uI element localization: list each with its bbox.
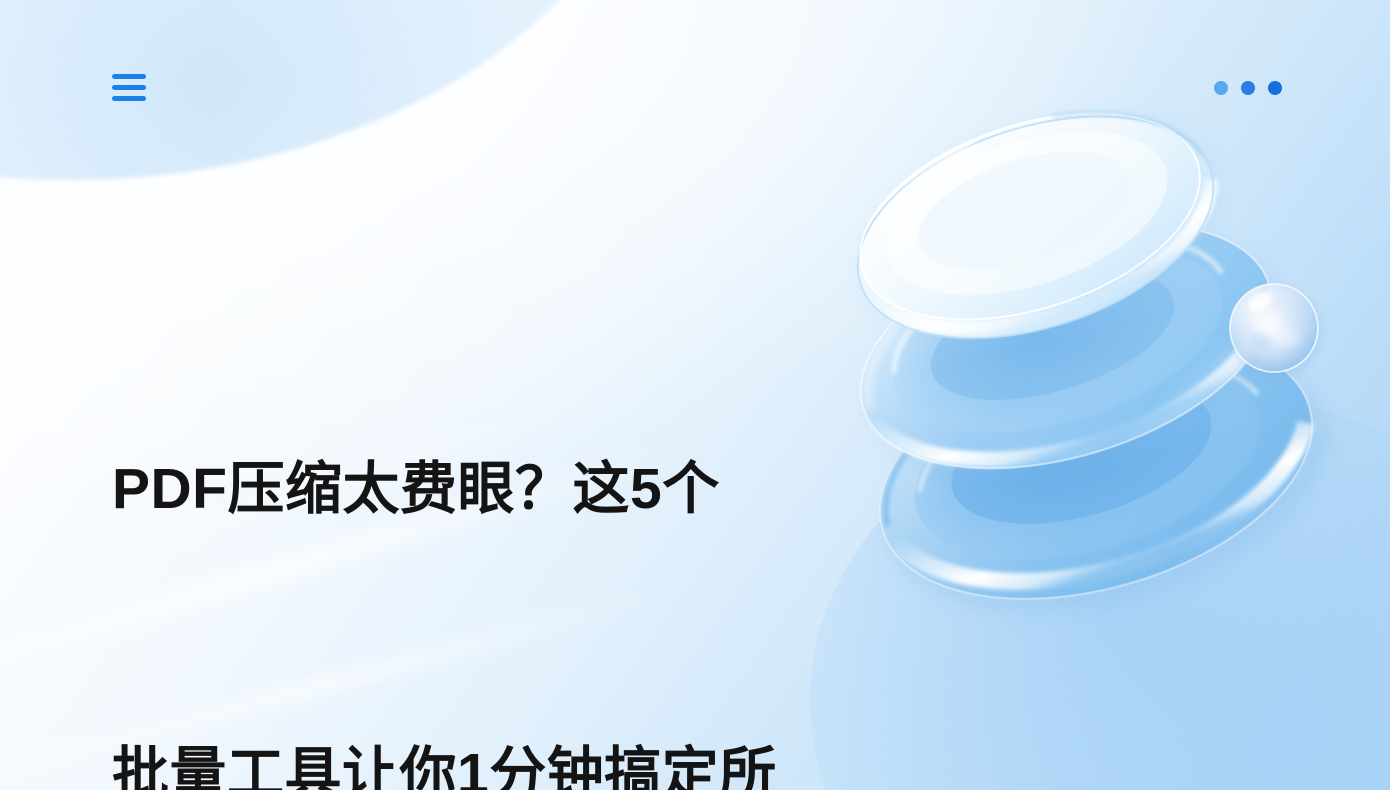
slide-topbar (0, 0, 1390, 175)
hamburger-bar-3 (112, 96, 146, 101)
background-haze-decoration (810, 390, 1390, 790)
hamburger-bar-2 (112, 85, 146, 90)
hamburger-bar-1 (112, 74, 146, 79)
dot-3-icon (1268, 81, 1282, 95)
stacked-glass-discs-illustration (798, 148, 1338, 668)
page-title-line: PDF压缩太费眼？这5个 (112, 442, 872, 537)
glass-disc-middle (831, 177, 1312, 525)
glass-sphere (1230, 284, 1322, 378)
dot-2-icon (1241, 81, 1255, 95)
slide-canvas: PDF压缩太费眼？这5个 批量工具让你1分钟搞定所 有文件 (0, 0, 1390, 790)
more-options-dots-icon[interactable] (1214, 81, 1282, 95)
hamburger-menu-icon[interactable] (112, 71, 152, 105)
dot-1-icon (1214, 81, 1228, 95)
page-title-line: 批量工具让你1分钟搞定所 (112, 727, 872, 790)
page-title: PDF压缩太费眼？这5个 批量工具让你1分钟搞定所 有文件 (112, 252, 872, 790)
glass-disc-bottom (849, 288, 1360, 660)
